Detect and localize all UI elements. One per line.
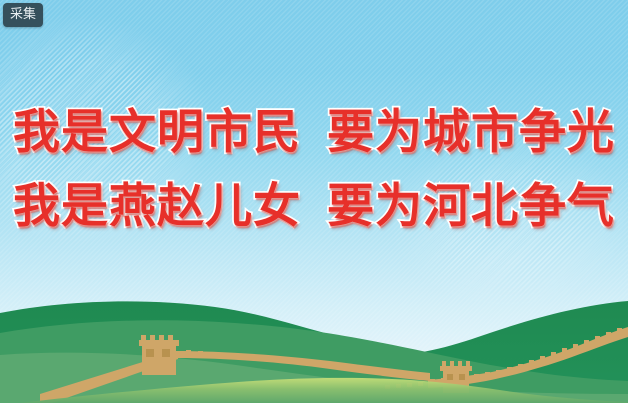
slogan-line-1: 我是文明市民要为城市争光 — [0, 96, 628, 170]
capture-button[interactable]: 采集 — [3, 3, 43, 27]
great-wall-watchtower-left — [139, 335, 179, 375]
banner-screenshot: 我是文明市民要为城市争光 我是燕赵儿女要为河北争气 采集 — [0, 0, 628, 403]
slogan-line-2: 我是燕赵儿女要为河北争气 — [0, 170, 628, 244]
slogan-line-1-left: 我是文明市民 — [13, 105, 301, 160]
landscape-illustration — [0, 293, 628, 403]
slogan-block: 我是文明市民要为城市争光 我是燕赵儿女要为河北争气 — [0, 96, 628, 244]
slogan-line-1-right: 要为城市争光 — [327, 105, 615, 160]
slogan-line-2-right: 要为河北争气 — [327, 179, 615, 234]
slogan-line-2-left: 我是燕赵儿女 — [13, 179, 301, 234]
